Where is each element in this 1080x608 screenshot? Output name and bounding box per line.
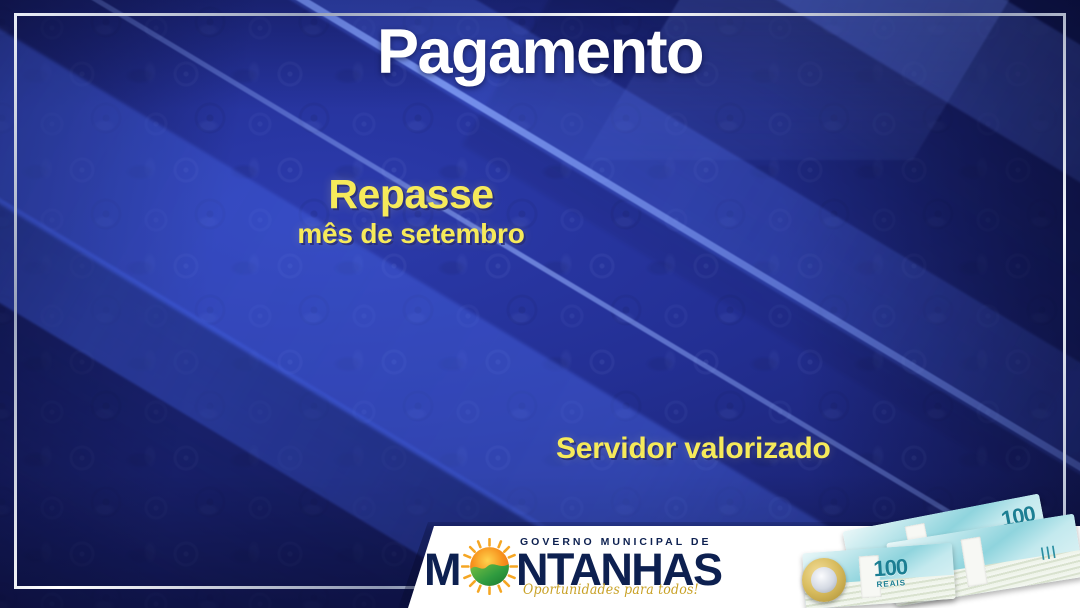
headline-block: Repasse mês de setembro [236,172,586,250]
subheadline-text: mês de setembro [236,218,586,250]
logo-tagline: Oportunidades para todos! [523,582,699,598]
municipal-logo: M NTANHAS [424,530,684,602]
logo-wordmark-prefix: M [424,548,460,592]
sun-icon [461,538,518,595]
headline-text: Repasse [236,172,586,216]
banknote-denomination: 100 [873,556,908,580]
announcement-card: Pagamento Repasse mês de setembro Servid… [0,0,1080,608]
logo-government-line: GOVERNO MUNICIPAL DE [520,536,711,548]
mountain-wave-icon [469,563,510,588]
banknote-security-marks: ||| [1039,543,1058,560]
page-title: Pagamento [0,16,1080,88]
slogan-text: Servidor valorizado [556,432,831,466]
brazilian-real-coin [802,558,846,602]
money-artwork: 100 ||| 100 REAIS 100 REAIS [794,496,1080,608]
